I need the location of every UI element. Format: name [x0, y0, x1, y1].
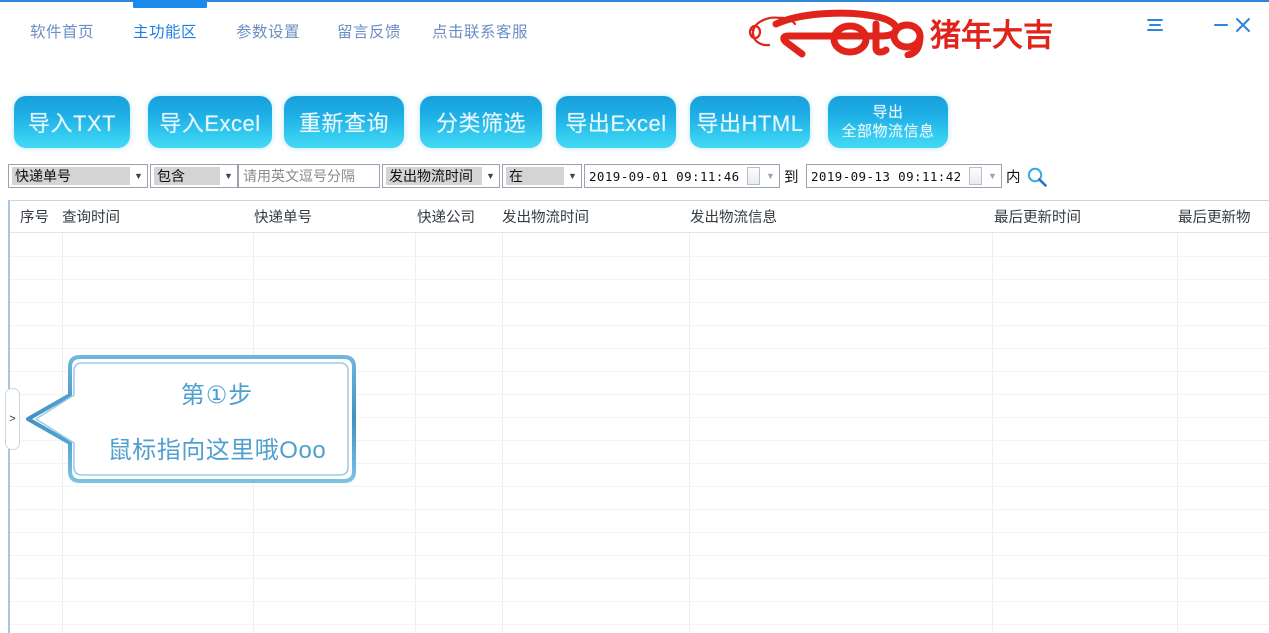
toolbar: 导入TXT 导入Excel 重新查询 分类筛选 导出Excel 导出HTML 导…	[0, 96, 1269, 154]
column-divider[interactable]	[992, 233, 993, 633]
import-txt-button[interactable]: 导入TXT	[14, 96, 130, 148]
column-divider[interactable]	[62, 233, 63, 633]
table-row[interactable]	[10, 555, 1269, 556]
column-header-query-time[interactable]: 查询时间	[62, 201, 120, 232]
export-html-button[interactable]: 导出HTML	[690, 96, 810, 148]
field-select[interactable]: 快递单号 ▼	[8, 164, 148, 188]
export-excel-button[interactable]: 导出Excel	[556, 96, 676, 148]
column-header-ship-info[interactable]: 发出物流信息	[690, 201, 777, 232]
operator-select[interactable]: 包含 ▼	[150, 164, 238, 188]
column-divider[interactable]	[1177, 233, 1178, 633]
table-row[interactable]	[10, 578, 1269, 579]
nav-tab-home[interactable]: 软件首页	[30, 22, 94, 44]
filter-bar: 快递单号 ▼ 包含 ▼ 请用英文逗号分隔 发出物流时间 ▼ 在 ▼ 2019-0…	[0, 164, 1269, 194]
nav-tab-main[interactable]: 主功能区	[133, 22, 197, 44]
chevron-down-icon: ▼	[130, 165, 147, 187]
column-header-update-time[interactable]: 最后更新时间	[994, 201, 1081, 232]
time-operator-select-value: 在	[506, 167, 564, 185]
search-icon[interactable]	[1026, 166, 1048, 188]
calendar-dropdown-icon[interactable]: ▼	[762, 171, 779, 181]
table-row[interactable]	[10, 279, 1269, 280]
column-header-update-info[interactable]: 最后更新物	[1178, 201, 1251, 232]
between-label: 到	[784, 164, 799, 188]
calendar-dropdown-icon[interactable]: ▼	[984, 171, 1001, 181]
export-all-line2: 全部物流信息	[841, 122, 934, 141]
column-header-courier[interactable]: 快递公司	[417, 201, 475, 232]
operator-select-value: 包含	[154, 167, 220, 185]
table-row[interactable]	[10, 348, 1269, 349]
menu-icon[interactable]	[1142, 12, 1168, 38]
logo-greeting-text: 猪年大吉	[930, 18, 1052, 54]
table-row[interactable]	[10, 624, 1269, 625]
column-divider[interactable]	[502, 233, 503, 633]
time-field-select[interactable]: 发出物流时间 ▼	[382, 164, 500, 188]
date-to-value: 2019-09-13 09:11:42	[807, 169, 969, 184]
table-row[interactable]	[10, 325, 1269, 326]
table-row[interactable]	[10, 509, 1269, 510]
within-label: 内	[1006, 164, 1021, 188]
chevron-down-icon: ▼	[564, 165, 581, 187]
import-excel-button[interactable]: 导入Excel	[148, 96, 272, 148]
keyword-input[interactable]: 请用英文逗号分隔	[238, 164, 380, 188]
field-select-value: 快递单号	[12, 167, 130, 185]
date-to-input[interactable]: 2019-09-13 09:11:42 ▼	[806, 164, 1002, 188]
chevron-down-icon: ▼	[482, 165, 499, 187]
chevron-down-icon: ▼	[220, 165, 237, 187]
app-logo: 猪年大吉	[742, 6, 1052, 58]
nav-tab-feedback[interactable]: 留言反馈	[337, 22, 401, 44]
requery-button[interactable]: 重新查询	[284, 96, 404, 148]
close-icon[interactable]	[1230, 12, 1256, 38]
nav-tab-support[interactable]: 点击联系客服	[432, 22, 528, 44]
column-header-tracking-no[interactable]: 快递单号	[254, 201, 312, 232]
table-row[interactable]	[10, 302, 1269, 303]
export-all-logistics-button[interactable]: 导出 全部物流信息	[828, 96, 948, 148]
active-tab-indicator	[133, 0, 207, 8]
column-divider[interactable]	[689, 233, 690, 633]
sidebar-expand-handle[interactable]: >	[5, 388, 20, 450]
table-row[interactable]	[10, 256, 1269, 257]
column-header-index[interactable]: 序号	[20, 201, 49, 232]
column-header-ship-time[interactable]: 发出物流时间	[502, 201, 589, 232]
table-header-row: 序号 查询时间 快递单号 快递公司 发出物流时间 发出物流信息 最后更新时间 最…	[10, 201, 1269, 233]
category-filter-button[interactable]: 分类筛选	[420, 96, 542, 148]
date-from-spinner[interactable]	[747, 167, 760, 185]
time-operator-select[interactable]: 在 ▼	[502, 164, 582, 188]
table-row[interactable]	[10, 601, 1269, 602]
export-all-line1: 导出	[872, 103, 903, 122]
callout-line2: 鼠标指向这里哦Ooo	[108, 430, 326, 465]
time-field-select-value: 发出物流时间	[386, 167, 482, 185]
date-from-value: 2019-09-01 09:11:46	[585, 169, 747, 184]
callout-line1: 第①步	[181, 375, 254, 410]
date-from-input[interactable]: 2019-09-01 09:11:46 ▼	[584, 164, 780, 188]
date-to-spinner[interactable]	[969, 167, 982, 185]
table-row[interactable]	[10, 532, 1269, 533]
table-row[interactable]	[10, 486, 1269, 487]
nav-tabs: 软件首页 主功能区 参数设置 留言反馈 点击联系客服	[0, 22, 700, 58]
column-divider[interactable]	[415, 233, 416, 633]
nav-tab-settings[interactable]: 参数设置	[236, 22, 300, 44]
